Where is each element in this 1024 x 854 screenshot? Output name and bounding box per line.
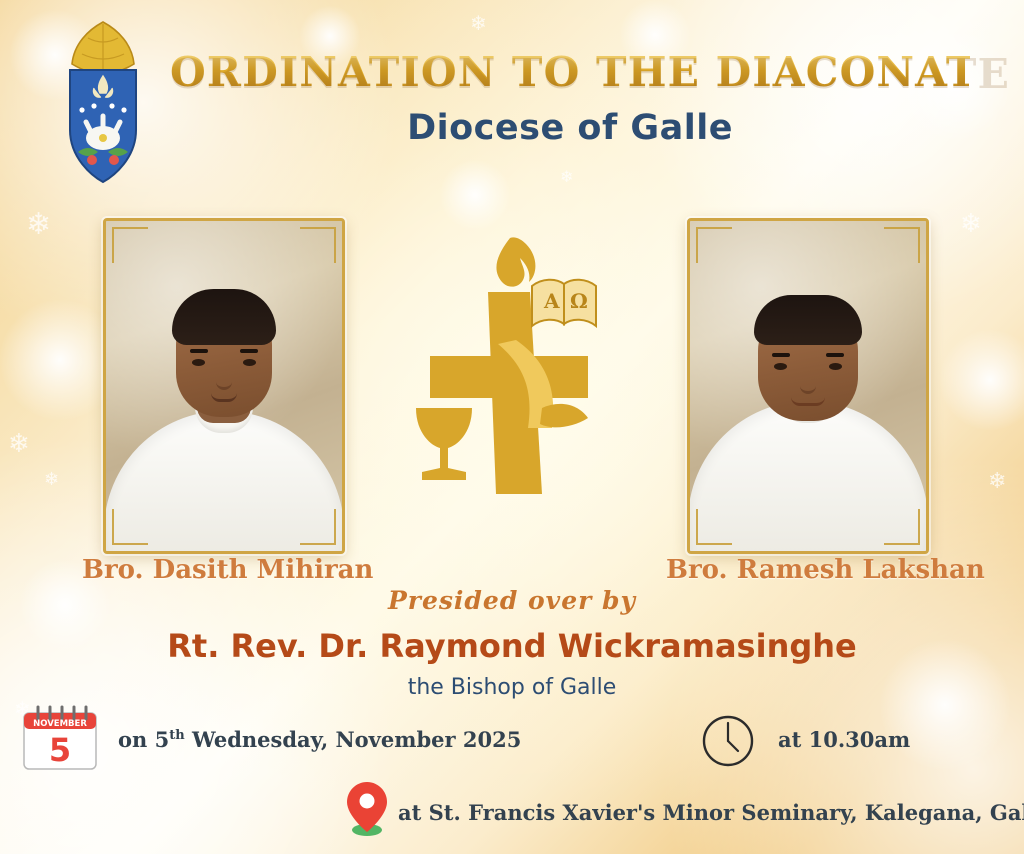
- ordination-emblem-icon: A Ω: [392, 232, 632, 512]
- candidate-photo-right: [687, 218, 929, 554]
- snowflake-decoration: ❄: [8, 430, 30, 456]
- presided-over-by-label: Presided over by: [262, 586, 762, 615]
- calendar-day-label: 5: [49, 731, 71, 769]
- snowflake-decoration: ❄: [560, 170, 573, 186]
- clock-icon: [700, 713, 756, 769]
- portrait-illustration: [690, 221, 926, 551]
- bishop-name: Rt. Rev. Dr. Raymond Wickramasinghe: [162, 627, 862, 665]
- event-date-text: on 5th Wednesday, November 2025: [118, 727, 521, 752]
- event-time-text: at 10.30am: [778, 727, 910, 752]
- snowflake-decoration: ❄: [44, 470, 59, 488]
- sparkle-decoration: [940, 330, 1024, 430]
- poster-canvas: ❄ ❄ ❄ ❄ ❄ ❄ ❄ ❄: [0, 0, 1024, 854]
- snowflake-decoration: ❄: [960, 210, 982, 236]
- portrait-nose: [800, 377, 816, 394]
- snowflake-decoration: ❄: [26, 210, 51, 240]
- event-venue-text: at St. Francis Xavier's Minor Seminary, …: [398, 800, 1024, 825]
- sparkle-decoration: [0, 300, 120, 420]
- portrait-brow: [772, 353, 790, 357]
- date-suffix: Wednesday, November 2025: [185, 727, 522, 752]
- date-prefix: on 5: [118, 727, 169, 752]
- portrait-hair: [754, 295, 862, 345]
- portrait-eye: [243, 359, 256, 366]
- sparkle-decoration: [440, 160, 510, 230]
- portrait-eye: [774, 363, 787, 370]
- portrait-nose: [216, 373, 232, 390]
- candidate-name-left: Bro. Dasith Mihiran: [82, 555, 362, 585]
- portrait-hair: [172, 289, 276, 345]
- calendar-icon: NOVEMBER 5: [18, 705, 102, 771]
- portrait-eye: [192, 359, 205, 366]
- candidate-photo-left: [103, 218, 345, 554]
- candidate-name-right: Bro. Ramesh Lakshan: [666, 555, 946, 585]
- portrait-brow: [240, 349, 258, 353]
- portrait-shirt: [688, 401, 928, 554]
- location-pin-icon: [344, 780, 390, 838]
- portrait-brow: [826, 353, 844, 357]
- portrait-brow: [190, 349, 208, 353]
- alpha-glyph: A: [543, 289, 560, 313]
- omega-glyph: Ω: [570, 289, 588, 313]
- page-subtitle: Diocese of Galle: [170, 108, 970, 148]
- bishop-role: the Bishop of Galle: [262, 675, 762, 700]
- calendar-month-label: NOVEMBER: [33, 719, 87, 729]
- portrait-mouth: [791, 397, 825, 406]
- portrait-eye: [829, 363, 842, 370]
- snowflake-decoration: ❄: [988, 470, 1006, 492]
- title-block: ORDINATION TO THE DIACONATE Diocese of G…: [170, 48, 970, 148]
- diocesan-crest-icon: [48, 18, 158, 188]
- date-ordinal: th: [169, 728, 184, 743]
- portrait-illustration: [106, 221, 342, 551]
- snowflake-decoration: ❄: [470, 14, 487, 34]
- page-title: ORDINATION TO THE DIACONATE: [170, 48, 970, 96]
